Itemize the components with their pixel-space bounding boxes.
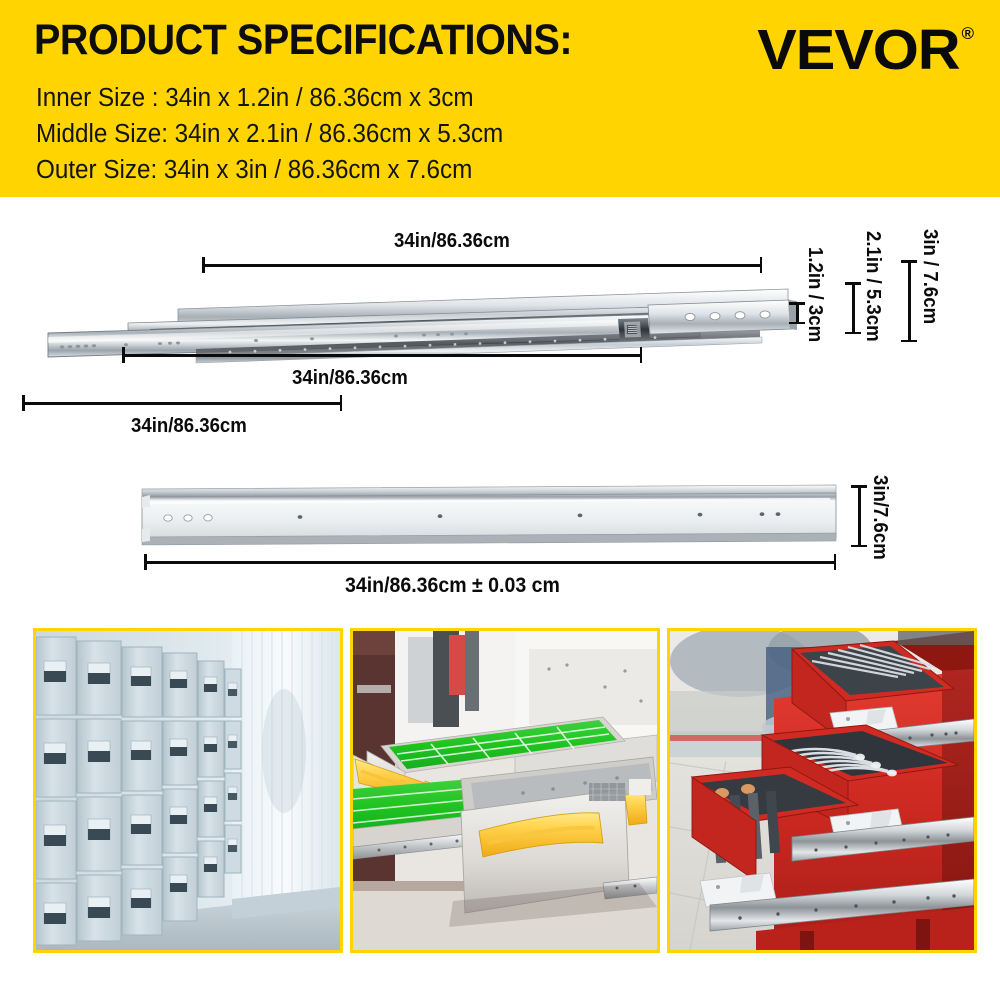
header-banner: PRODUCT SPECIFICATIONS: Inner Size : 34i…	[0, 0, 1000, 197]
dimension-label-middle-length: 34in/86.36cm	[292, 368, 408, 388]
dimension-bar-middle-height	[845, 282, 861, 334]
dimension-bar-rail-height	[851, 485, 867, 547]
dimension-rule	[22, 402, 342, 405]
dimension-rule	[122, 354, 642, 357]
registered-trademark-icon: ®	[961, 25, 974, 42]
brand-logo: VEVOR ®	[765, 23, 974, 77]
dimension-tick-top	[901, 260, 917, 263]
dimension-label-inner-length: 34in/86.36cm	[131, 416, 247, 436]
dimension-rule	[858, 485, 861, 547]
dimension-tick-right	[834, 554, 837, 570]
red-tool-chest-artwork	[670, 631, 974, 950]
dimension-tick-top	[851, 485, 867, 488]
page-title: PRODUCT SPECIFICATIONS:	[34, 19, 572, 62]
photo-red-tool-chest	[667, 628, 977, 953]
dimension-tick-right	[640, 347, 643, 363]
photo-filing-cabinets-image	[36, 631, 340, 950]
dimension-label-middle-height: 2.1in / 5.3cm	[863, 231, 883, 342]
dimension-label-rail-height: 3in/7.6cm	[870, 475, 890, 560]
dimension-tick-left	[144, 554, 147, 570]
dimension-bar-inner-length	[22, 395, 342, 411]
dimension-tick-bottom	[901, 340, 917, 343]
dimension-label-outer-height: 3in / 7.6cm	[920, 229, 940, 324]
photo-tool-drawers-green-image	[353, 631, 657, 950]
photo-tool-drawers-green	[350, 628, 660, 953]
dimension-tick-top	[845, 282, 861, 285]
dimension-tick-right	[340, 395, 343, 411]
dimension-rule	[144, 561, 836, 564]
photo-red-tool-chest-image	[670, 631, 974, 950]
dimension-label-rail-length: 34in/86.36cm ± 0.03 cm	[345, 575, 560, 596]
dimension-tick-bottom	[789, 322, 805, 325]
dimension-rule	[202, 264, 762, 267]
dimension-tick-left	[22, 395, 25, 411]
dimension-tick-right	[760, 257, 763, 273]
filing-cabinets-artwork	[36, 631, 340, 950]
dimension-label-outer-length: 34in/86.36cm	[394, 231, 510, 251]
dimension-bar-outer-length	[202, 257, 762, 273]
photo-strip	[0, 628, 1000, 958]
dimension-rule	[852, 282, 855, 334]
dimension-tick-top	[789, 302, 805, 305]
spec-line-middle-size: Middle Size: 34in x 2.1in / 86.36cm x 5.…	[36, 122, 503, 148]
dimension-tick-left	[122, 347, 125, 363]
dimension-tick-left	[202, 257, 205, 273]
dimension-bar-middle-length	[122, 347, 642, 363]
dimension-bar-outer-height	[901, 260, 917, 342]
spec-line-outer-size: Outer Size: 34in x 3in / 86.36cm x 7.6cm	[36, 158, 472, 184]
dimension-bar-rail-length	[144, 554, 836, 570]
dimension-tick-bottom	[851, 545, 867, 548]
brand-wordmark: VEVOR	[757, 23, 959, 77]
dimension-tick-bottom	[845, 332, 861, 335]
diagram-area: 34in/86.36cm 34in/86.36cm 34in/86.36cm 1…	[0, 197, 1000, 615]
spec-line-inner-size: Inner Size : 34in x 1.2in / 86.36cm x 3c…	[36, 86, 474, 112]
green-drawer-cabinet-artwork	[353, 631, 657, 950]
dimension-rule	[908, 260, 911, 342]
dimension-bar-inner-height	[789, 302, 805, 324]
photo-filing-cabinets	[33, 628, 343, 953]
dimension-label-inner-height: 1.2in / 3cm	[805, 247, 825, 342]
